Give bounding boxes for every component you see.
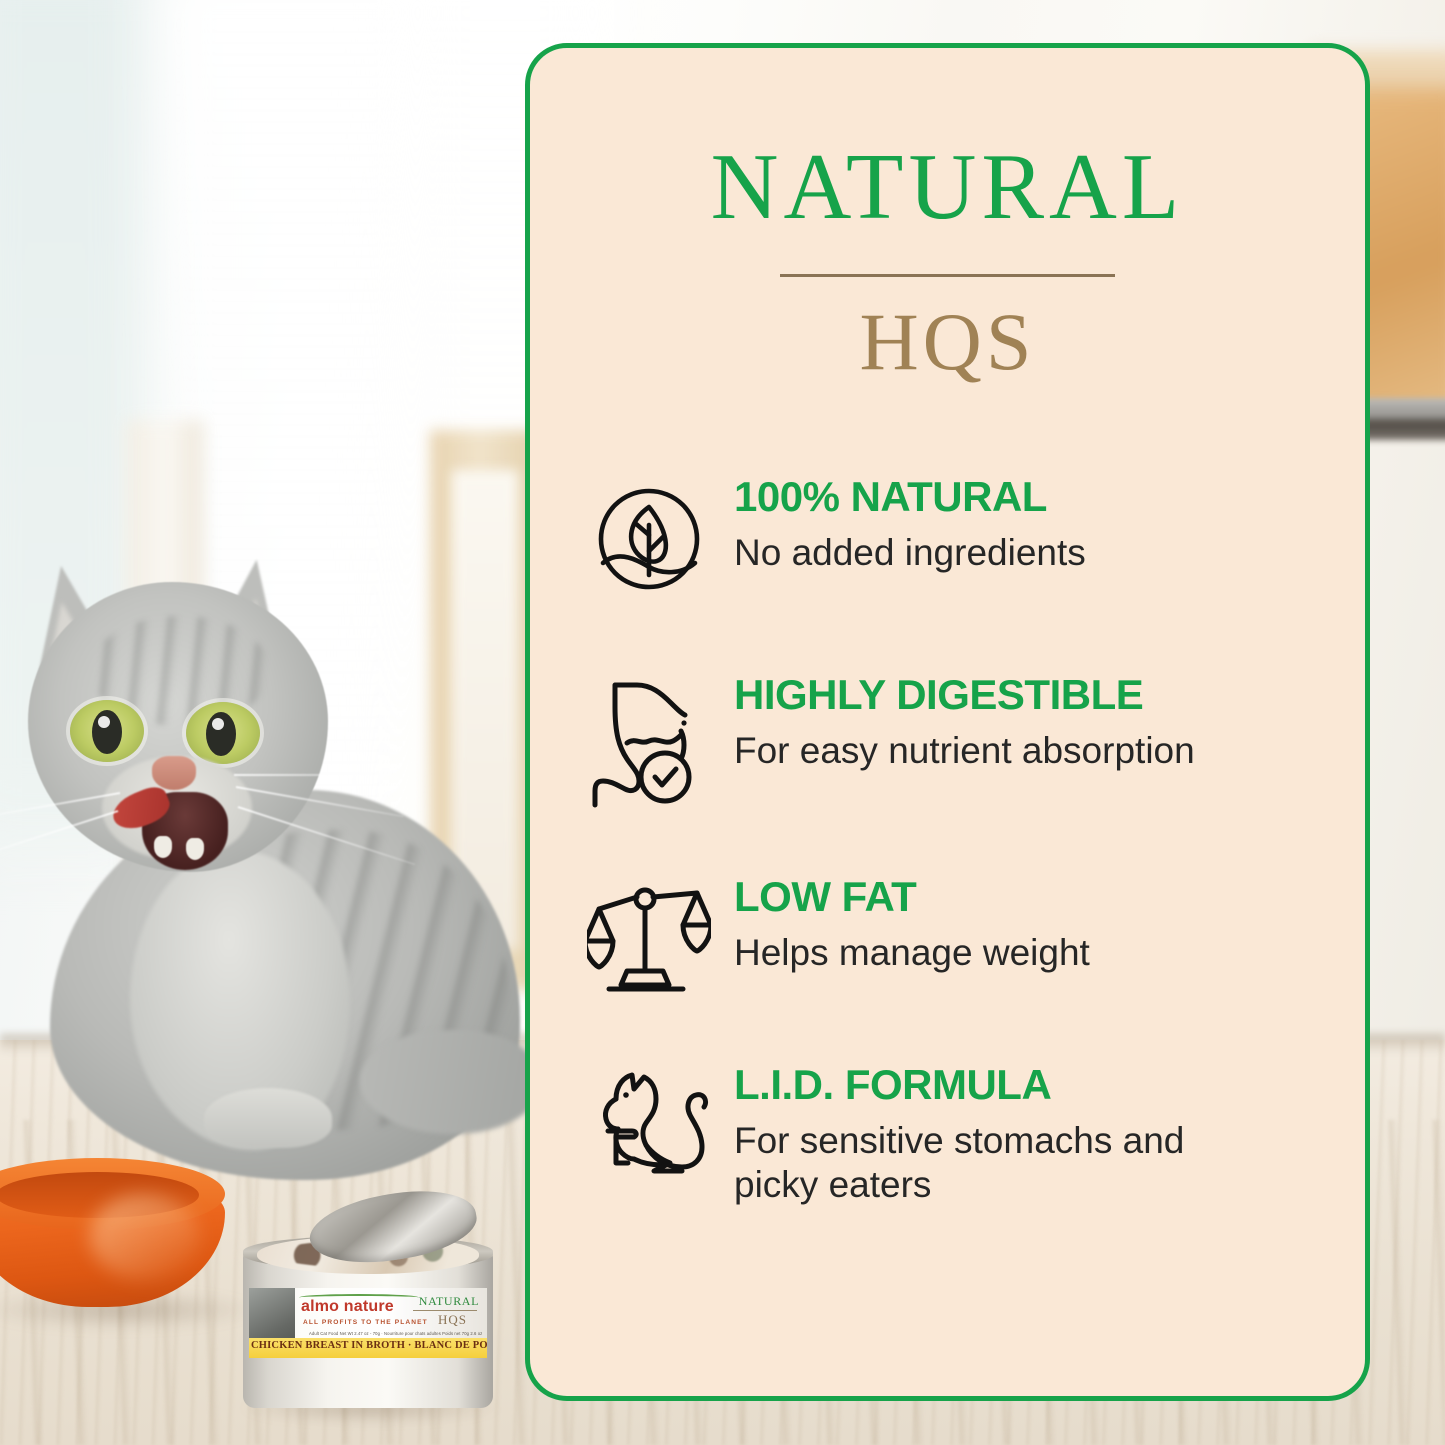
cat-eye-glint-left (98, 716, 110, 728)
brand-title: NATURAL (530, 140, 1365, 234)
can-line-sub: HQS (438, 1312, 467, 1328)
cat-tooth-right (186, 838, 204, 860)
cat-tooth-left (154, 836, 172, 858)
feature-description: No added ingredients (734, 531, 1086, 575)
bowl-highlight (90, 1194, 200, 1280)
brand-subtitle: HQS (530, 301, 1365, 383)
feature-text: HIGHLY DIGESTIBLE For easy nutrient abso… (724, 673, 1195, 773)
card-header: NATURAL HQS (530, 48, 1365, 383)
sitting-cat-icon (574, 1063, 724, 1189)
feature-title: HIGHLY DIGESTIBLE (734, 673, 1195, 717)
feature-title: L.I.D. FORMULA (734, 1063, 1254, 1107)
feature-text: L.I.D. FORMULA For sensitive stomachs an… (724, 1063, 1254, 1207)
feature-row: LOW FAT Helps manage weight (574, 875, 1325, 997)
cat-eye-glint-right (212, 718, 224, 730)
stomach-check-icon (574, 673, 724, 809)
feature-text: 100% NATURAL No added ingredients (724, 475, 1086, 575)
features-list: 100% NATURAL No added ingredients HIGHLY… (530, 475, 1365, 1207)
cat-whisker (234, 774, 384, 776)
cat-photo-subject (0, 560, 550, 1200)
feature-title: LOW FAT (734, 875, 1090, 919)
feature-row: 100% NATURAL No added ingredients (574, 475, 1325, 599)
leaf-circle-icon (574, 475, 724, 599)
feature-text: LOW FAT Helps manage weight (724, 875, 1090, 975)
balance-scale-icon (574, 875, 724, 997)
feature-description: For sensitive stomachs and picky eaters (734, 1119, 1254, 1208)
cat-nose (152, 756, 196, 790)
feature-row: HIGHLY DIGESTIBLE For easy nutrient abso… (574, 673, 1325, 809)
can-tagline: ALL PROFITS TO THE PLANET (303, 1319, 428, 1326)
feature-description: For easy nutrient absorption (734, 729, 1195, 773)
can-brand-name: almo nature (301, 1298, 394, 1316)
brand-divider (780, 274, 1115, 277)
orange-food-bowl (0, 1150, 235, 1315)
feature-title: 100% NATURAL (734, 475, 1086, 519)
product-can: almo nature ALL PROFITS TO THE PLANET NA… (243, 1196, 493, 1411)
feature-description: Helps manage weight (734, 931, 1090, 975)
can-flavor-text: CHICKEN BREAST IN BROTH · BLANC DE POULE… (251, 1340, 487, 1351)
benefits-card: NATURAL HQS 100% NATURAL No added ingred… (525, 43, 1370, 1401)
feature-row: L.I.D. FORMULA For sensitive stomachs an… (574, 1063, 1325, 1207)
can-fine-print: Adult Cat Food Net Wt 2.47 oz - 70g · No… (309, 1331, 482, 1336)
cat-tail (360, 1030, 540, 1134)
can-label-divider (413, 1310, 477, 1311)
cat-front-paws (204, 1088, 332, 1148)
can-line-name: NATURAL (419, 1294, 479, 1309)
can-label: almo nature ALL PROFITS TO THE PLANET NA… (249, 1288, 487, 1358)
